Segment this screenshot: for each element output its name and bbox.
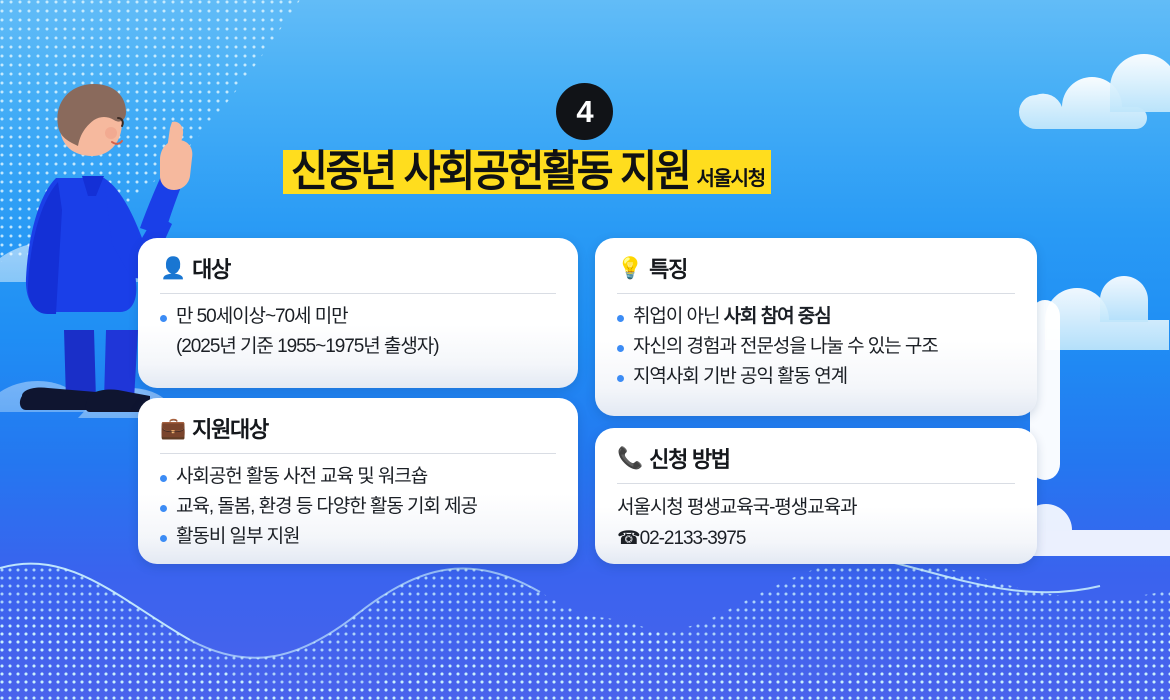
bullet-dot-icon: [617, 315, 624, 322]
card-feature: 💡 특징 취업이 아닌 사회 참여 중심 자신의 경험과 전문성을 나눌 수 있…: [595, 238, 1037, 416]
card-target-header: 👤 대상: [160, 252, 556, 294]
card-apply-header: 📞 신청 방법: [617, 442, 1015, 484]
list-item: 지역사회 기반 공익 활동 연계: [617, 363, 1015, 391]
page-title-organization: 서울시청: [696, 157, 764, 201]
light-bulb-icon: 💡: [617, 258, 643, 279]
page-title: 신중년 사회공헌활동 지원 서울시청: [283, 150, 771, 194]
cloud-right-edge: [1020, 276, 1170, 556]
bullet-dot-icon: [160, 535, 167, 542]
card-feature-title: 특징: [649, 252, 687, 284]
list-item-label: 지역사회 기반 공익 활동 연계: [633, 363, 847, 391]
list-item-label: 만 50세이상~70세 미만: [176, 303, 348, 331]
list-item: 자신의 경험과 전문성을 나눌 수 있는 구조: [617, 333, 1015, 361]
briefcase-icon: 💼: [160, 418, 186, 439]
list-item-label: 취업이 아닌 사회 참여 중심: [633, 303, 831, 331]
card-target-title: 대상: [192, 252, 230, 284]
page-title-main: 신중년 사회공헌활동 지원: [291, 148, 689, 196]
card-apply: 📞 신청 방법 서울시청 평생교육국-평생교육과 ☎02-2133-3975: [595, 428, 1037, 564]
card-apply-title: 신청 방법: [649, 442, 730, 474]
card-feature-header: 💡 특징: [617, 252, 1015, 294]
bullet-dot-icon: [160, 475, 167, 482]
list-item: 교육, 돌봄, 환경 등 다양한 활동 기회 제공: [160, 493, 556, 521]
list-item-label: 사회공헌 활동 사전 교육 및 워크숍: [176, 463, 427, 491]
list-item: 활동비 일부 지원: [160, 523, 556, 551]
card-target: 👤 대상 만 50세이상~70세 미만 (2025년 기준 1955~1975년…: [138, 238, 578, 388]
card-target-note: (2025년 기준 1955~1975년 출생자): [160, 333, 556, 361]
cloud-top-right: [1019, 54, 1170, 129]
bullet-dot-icon: [160, 315, 167, 322]
list-item: 취업이 아닌 사회 참여 중심: [617, 303, 1015, 331]
list-item-emphasis: 사회 참여 중심: [724, 306, 831, 327]
card-support: 💼 지원대상 사회공헌 활동 사전 교육 및 워크숍 교육, 돌봄, 환경 등 …: [138, 398, 578, 564]
card-apply-department: 서울시청 평생교육국-평생교육과: [617, 493, 1015, 524]
bust-in-silhouette-icon: 👤: [160, 258, 186, 279]
card-support-title: 지원대상: [192, 412, 268, 444]
card-support-header: 💼 지원대상: [160, 412, 556, 454]
list-item-label: 활동비 일부 지원: [176, 523, 299, 551]
card-apply-phone[interactable]: ☎02-2133-3975: [617, 524, 1015, 555]
list-item-label: 자신의 경험과 전문성을 나눌 수 있는 구조: [633, 333, 938, 361]
poster-canvas: 4 신중년 사회공헌활동 지원 서울시청 👤 대상 만 50세이상~70세 미만…: [0, 0, 1170, 700]
bullet-dot-icon: [617, 345, 624, 352]
telephone-receiver-icon: 📞: [617, 448, 643, 469]
list-item-label: 교육, 돌봄, 환경 등 다양한 활동 기회 제공: [176, 493, 477, 521]
list-item: 만 50세이상~70세 미만: [160, 303, 556, 331]
list-item: 사회공헌 활동 사전 교육 및 워크숍: [160, 463, 556, 491]
step-number-badge: 4: [556, 83, 613, 140]
bullet-dot-icon: [160, 505, 167, 512]
bullet-dot-icon: [617, 375, 624, 382]
